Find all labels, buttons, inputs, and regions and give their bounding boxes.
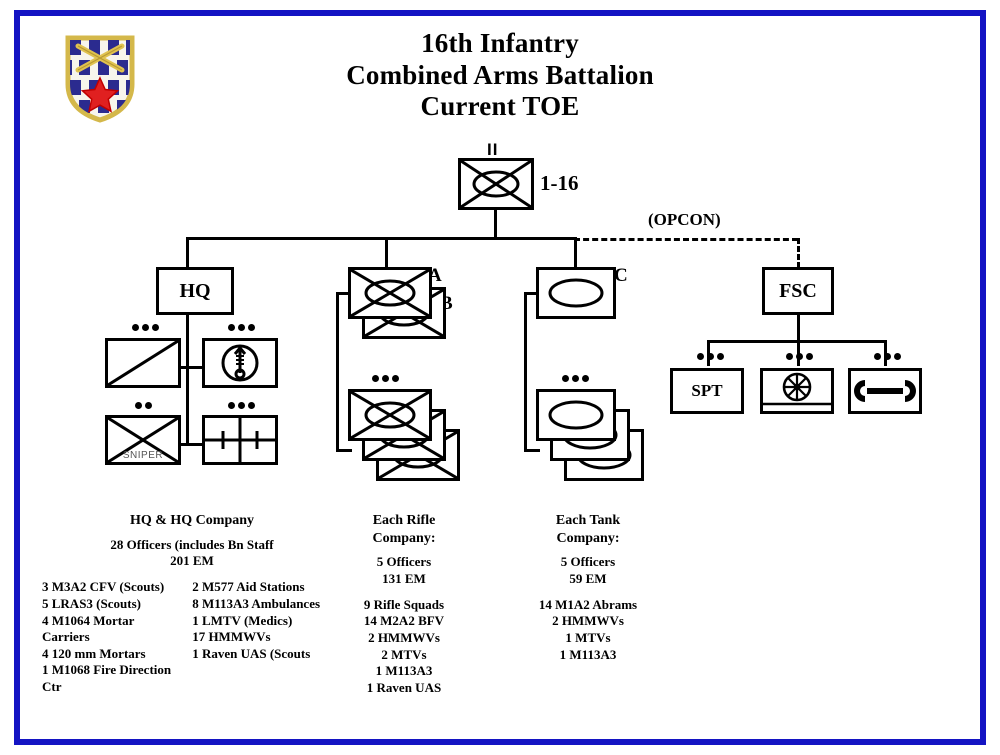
hq-label: HQ <box>159 270 231 312</box>
legend-rifle-title-line: Company: <box>338 530 470 548</box>
legend-tank-title-line: Each Tank <box>522 512 654 530</box>
connector-tank-bracket-vertical <box>524 292 527 452</box>
legend-rifle-item: 2 MTVs <box>338 647 470 664</box>
echelon-dots-scout-platoon <box>132 324 159 331</box>
legend-tank-title: Each Tank Company: <box>522 512 654 547</box>
legend-rifle: Each Rifle Company: 5 Officers 131 EM 9 … <box>338 512 470 697</box>
connector-bus-dashed-opcon <box>574 238 798 241</box>
page-title: 16th Infantry Combined Arms Battalion Cu… <box>270 28 730 123</box>
legend-hq-officers: 28 Officers (includes Bn Staff <box>42 537 342 554</box>
legend-hq-item: 4 120 mm Mortars <box>42 646 174 663</box>
legend-tank-items: 14 M1A2 Abrams 2 HMMWVs 1 MTVs 1 M113A3 <box>522 597 654 664</box>
echelon-dots-transportation-platoon <box>786 353 813 360</box>
unit-symbol-sniper-section[interactable]: SNIPER <box>105 415 181 465</box>
unit-symbol-distribution-platoon[interactable] <box>202 415 278 465</box>
unit-symbol-tank-company-c[interactable] <box>536 267 616 319</box>
legend-hq-item: 4 M1064 Mortar <box>42 613 174 630</box>
unit-symbol-rifle-platoon-1[interactable] <box>348 389 432 441</box>
tank-company-c-label: C <box>614 265 628 287</box>
unit-symbol-scout-platoon[interactable] <box>105 338 181 388</box>
title-line-3: Current TOE <box>270 91 730 123</box>
connector-drop-hq <box>186 237 189 267</box>
legend-tank-item: 14 M1A2 Abrams <box>522 597 654 614</box>
connector-bus-solid <box>186 237 576 240</box>
sniper-label: SNIPER <box>108 450 178 461</box>
legend-hq: HQ & HQ Company 28 Officers (includes Bn… <box>42 512 342 696</box>
legend-rifle-item: 9 Rifle Squads <box>338 597 470 614</box>
unit-symbol-tank-platoon-1[interactable] <box>536 389 616 441</box>
spt-label: SPT <box>673 371 741 411</box>
echelon-dots-distribution-platoon <box>228 402 255 409</box>
unit-box-spt-platoon[interactable]: SPT <box>670 368 744 414</box>
legend-hq-em: 201 EM <box>42 553 342 570</box>
echelon-dots-sniper-section <box>135 402 152 409</box>
legend-hq-title: HQ & HQ Company <box>42 512 342 530</box>
unit-symbol-rifle-company-a[interactable] <box>348 267 432 319</box>
legend-rifle-em: 131 EM <box>338 571 470 588</box>
unit-box-hq[interactable]: HQ <box>156 267 234 315</box>
unit-symbol-battalion-1-16[interactable] <box>458 158 534 210</box>
legend-hq-item: Ctr <box>42 679 174 696</box>
unit-symbol-transportation-platoon[interactable] <box>760 368 834 414</box>
connector-hq-spine <box>186 315 189 445</box>
legend-rifle-item: 14 M2A2 BFV <box>338 613 470 630</box>
legend-hq-item: 1 M1068 Fire Direction <box>42 662 174 679</box>
legend-rifle-title-line: Each Rifle <box>338 512 470 530</box>
connector-drop-fsc <box>797 238 800 268</box>
unit-box-fsc[interactable]: FSC <box>762 267 834 315</box>
fsc-label: FSC <box>765 270 831 312</box>
connector-rifle-bracket-vertical <box>336 292 339 452</box>
legend-hq-item: 17 HMMWVs <box>192 629 342 646</box>
connector-fsc-stem <box>797 315 800 342</box>
legend-tank-strength: 5 Officers 59 EM <box>522 554 654 588</box>
toe-diagram-page: 16th Infantry Combined Arms Battalion Cu… <box>0 0 1000 755</box>
battalion-designation-label: 1-16 <box>540 171 579 196</box>
legend-rifle-item: 1 Raven UAS <box>338 680 470 697</box>
echelon-dots-tank-platoons <box>562 375 589 382</box>
legend-rifle-item: 1 M113A3 <box>338 663 470 680</box>
battalion-echelon-indicator: II <box>487 140 498 160</box>
legend-hq-item: 5 LRAS3 (Scouts) <box>42 596 174 613</box>
title-line-1: 16th Infantry <box>270 28 730 60</box>
legend-tank-title-line: Company: <box>522 530 654 548</box>
legend-hq-item: 8 M113A3 Ambulances <box>192 596 342 613</box>
opcon-label: (OPCON) <box>648 210 721 230</box>
legend-rifle-item: 2 HMMWVs <box>338 630 470 647</box>
echelon-dots-rifle-platoons <box>372 375 399 382</box>
legend-hq-left-column: 3 M3A2 CFV (Scouts) 5 LRAS3 (Scouts) 4 M… <box>42 579 174 695</box>
legend-tank: Each Tank Company: 5 Officers 59 EM 14 M… <box>522 512 654 663</box>
legend-hq-item: 1 Raven UAS (Scouts <box>192 646 342 663</box>
echelon-dots-spt-platoon <box>697 353 724 360</box>
connector-root-stem <box>494 210 497 239</box>
legend-tank-item: 1 MTVs <box>522 630 654 647</box>
unit-symbol-maintenance-platoon[interactable] <box>848 368 922 414</box>
legend-hq-item: 3 M3A2 CFV (Scouts) <box>42 579 174 596</box>
legend-tank-officers: 5 Officers <box>522 554 654 571</box>
unit-crest-icon <box>62 32 138 124</box>
legend-hq-item: 2 M577 Aid Stations <box>192 579 342 596</box>
legend-tank-em: 59 EM <box>522 571 654 588</box>
echelon-dots-maintenance-platoon <box>874 353 901 360</box>
legend-tank-item: 1 M113A3 <box>522 647 654 664</box>
legend-hq-strength: 28 Officers (includes Bn Staff 201 EM <box>42 537 342 571</box>
connector-tank-bracket-bottom <box>524 449 540 452</box>
connector-rifle-bracket-bottom <box>336 449 352 452</box>
legend-hq-item: Carriers <box>42 629 174 646</box>
legend-rifle-items: 9 Rifle Squads 14 M2A2 BFV 2 HMMWVs 2 MT… <box>338 597 470 697</box>
legend-hq-right-column: 2 M577 Aid Stations 8 M113A3 Ambulances … <box>192 579 342 695</box>
legend-rifle-strength: 5 Officers 131 EM <box>338 554 470 588</box>
unit-symbol-mortar-platoon[interactable] <box>202 338 278 388</box>
legend-rifle-officers: 5 Officers <box>338 554 470 571</box>
legend-hq-item: 1 LMTV (Medics) <box>192 613 342 630</box>
connector-drop-tank <box>574 237 577 267</box>
echelon-dots-mortar-platoon <box>228 324 255 331</box>
connector-drop-rifle <box>385 237 388 267</box>
legend-tank-item: 2 HMMWVs <box>522 613 654 630</box>
title-line-2: Combined Arms Battalion <box>270 60 730 92</box>
legend-rifle-title: Each Rifle Company: <box>338 512 470 547</box>
